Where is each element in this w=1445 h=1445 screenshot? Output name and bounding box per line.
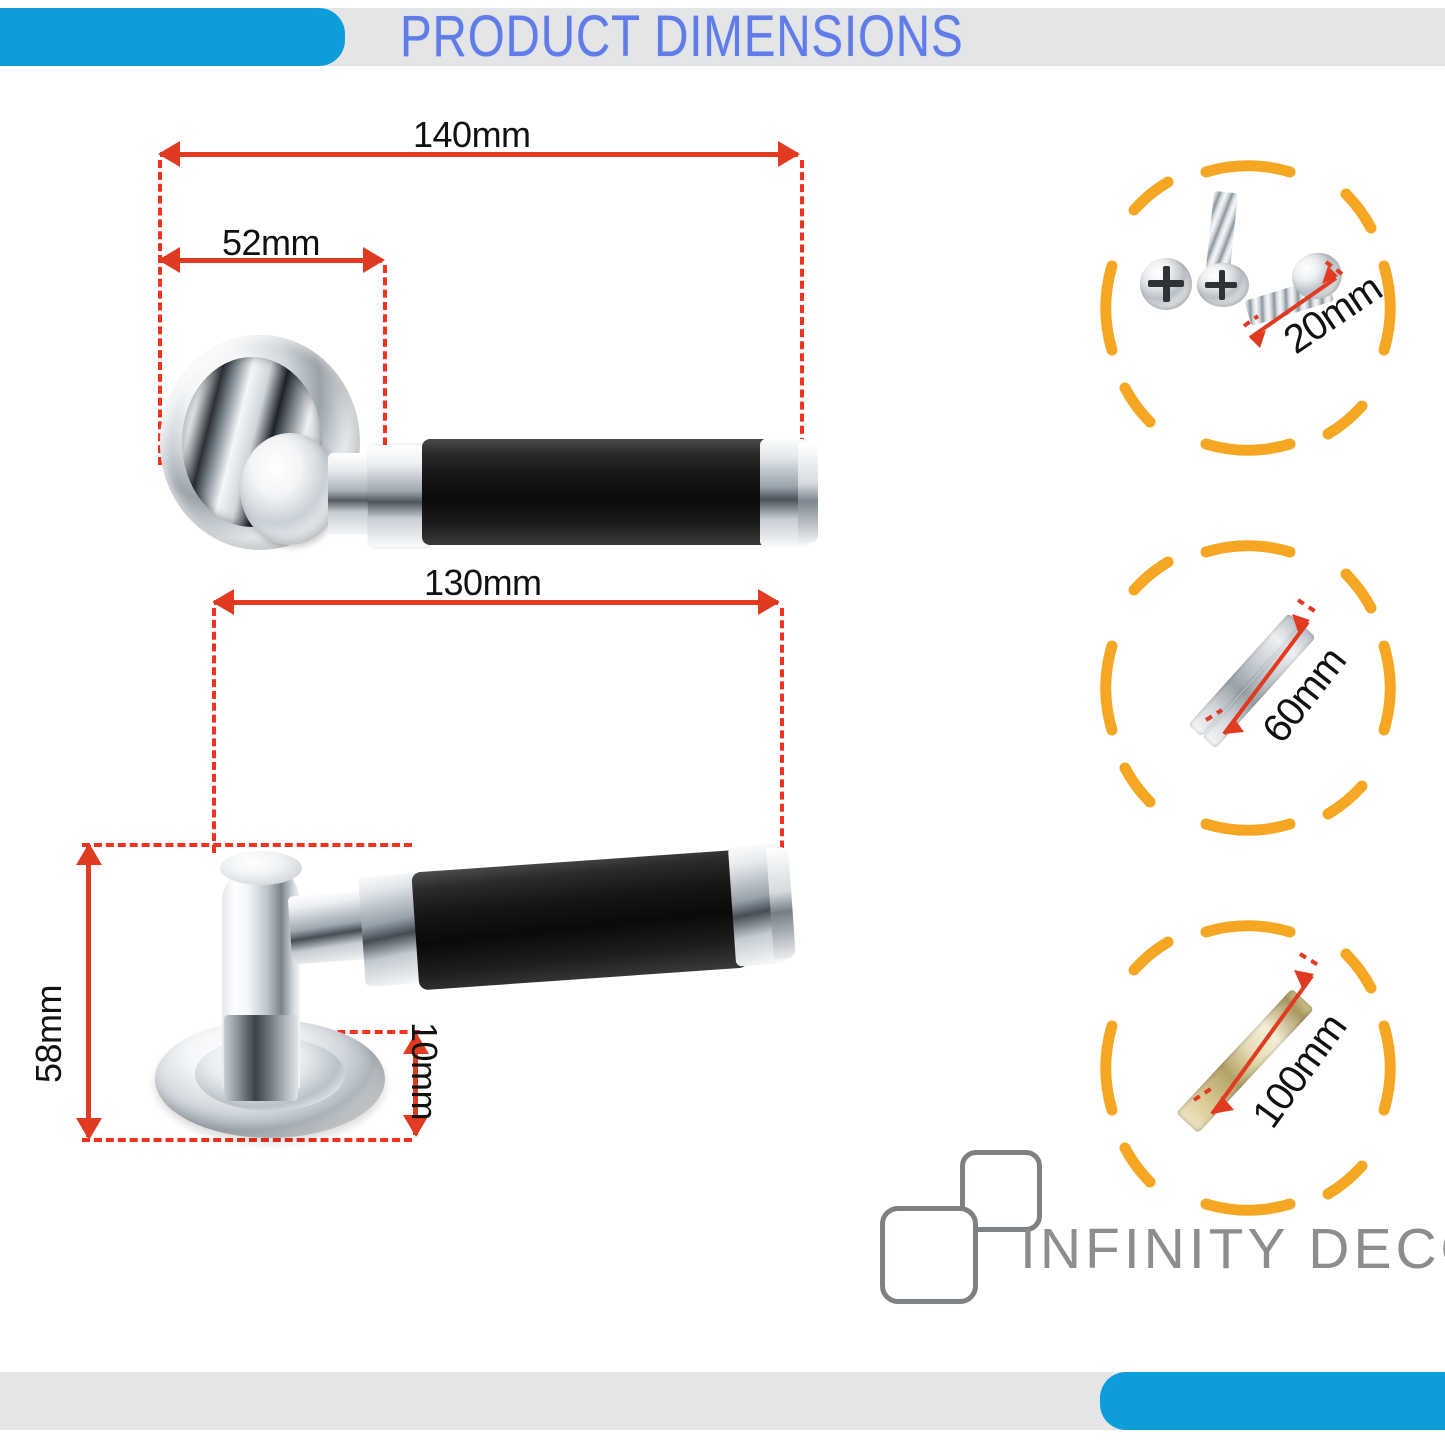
accessory-screws: 20mm bbox=[1098, 158, 1398, 458]
dimension-label-130: 130mm bbox=[424, 562, 542, 604]
dimension-label-52: 52mm bbox=[222, 222, 320, 264]
rose-hub bbox=[240, 433, 340, 545]
arrow-right-52 bbox=[363, 247, 385, 273]
logo-square-lower-icon bbox=[880, 1206, 978, 1304]
footer-accent-block bbox=[1100, 1372, 1445, 1430]
arrow-up-58 bbox=[76, 843, 102, 865]
lever-black-grip-angled bbox=[411, 850, 748, 991]
arrow-down-58 bbox=[76, 1118, 102, 1140]
header-accent-block bbox=[0, 8, 345, 66]
accessory-bolts: 60mm bbox=[1098, 538, 1398, 838]
door-handle-front-view bbox=[150, 335, 830, 565]
dimension-line-58 bbox=[86, 845, 91, 1137]
handle-stem-shadow bbox=[224, 1015, 298, 1101]
brand-logo: INFINITY DECOR bbox=[868, 1148, 1428, 1313]
arrow-left-52 bbox=[158, 247, 180, 273]
handle-stem-top-cap bbox=[220, 851, 302, 885]
arrow-right-140 bbox=[778, 141, 800, 167]
dimension-60mm-arrow bbox=[1098, 538, 1398, 838]
lever-end-cap bbox=[798, 443, 818, 543]
lever-black-grip bbox=[422, 439, 770, 545]
lever-collar-inner bbox=[368, 445, 430, 547]
arrow-left-140 bbox=[158, 141, 180, 167]
page-title: PRODUCT DIMENSIONS bbox=[400, 2, 1138, 72]
dimension-label-140: 140mm bbox=[413, 114, 531, 156]
logo-wordmark: INFINITY DECOR bbox=[1020, 1216, 1445, 1282]
door-handle-angled-view bbox=[140, 815, 840, 1145]
screws-artwork: 20mm bbox=[1098, 158, 1398, 458]
dimension-label-58: 58mm bbox=[28, 985, 70, 1083]
bolts-artwork: 60mm bbox=[1098, 538, 1398, 838]
arrow-right-130 bbox=[758, 589, 780, 615]
arrow-left-130 bbox=[212, 589, 234, 615]
infographic-canvas: PRODUCT DIMENSIONS 140mm 52mm bbox=[0, 0, 1445, 1445]
